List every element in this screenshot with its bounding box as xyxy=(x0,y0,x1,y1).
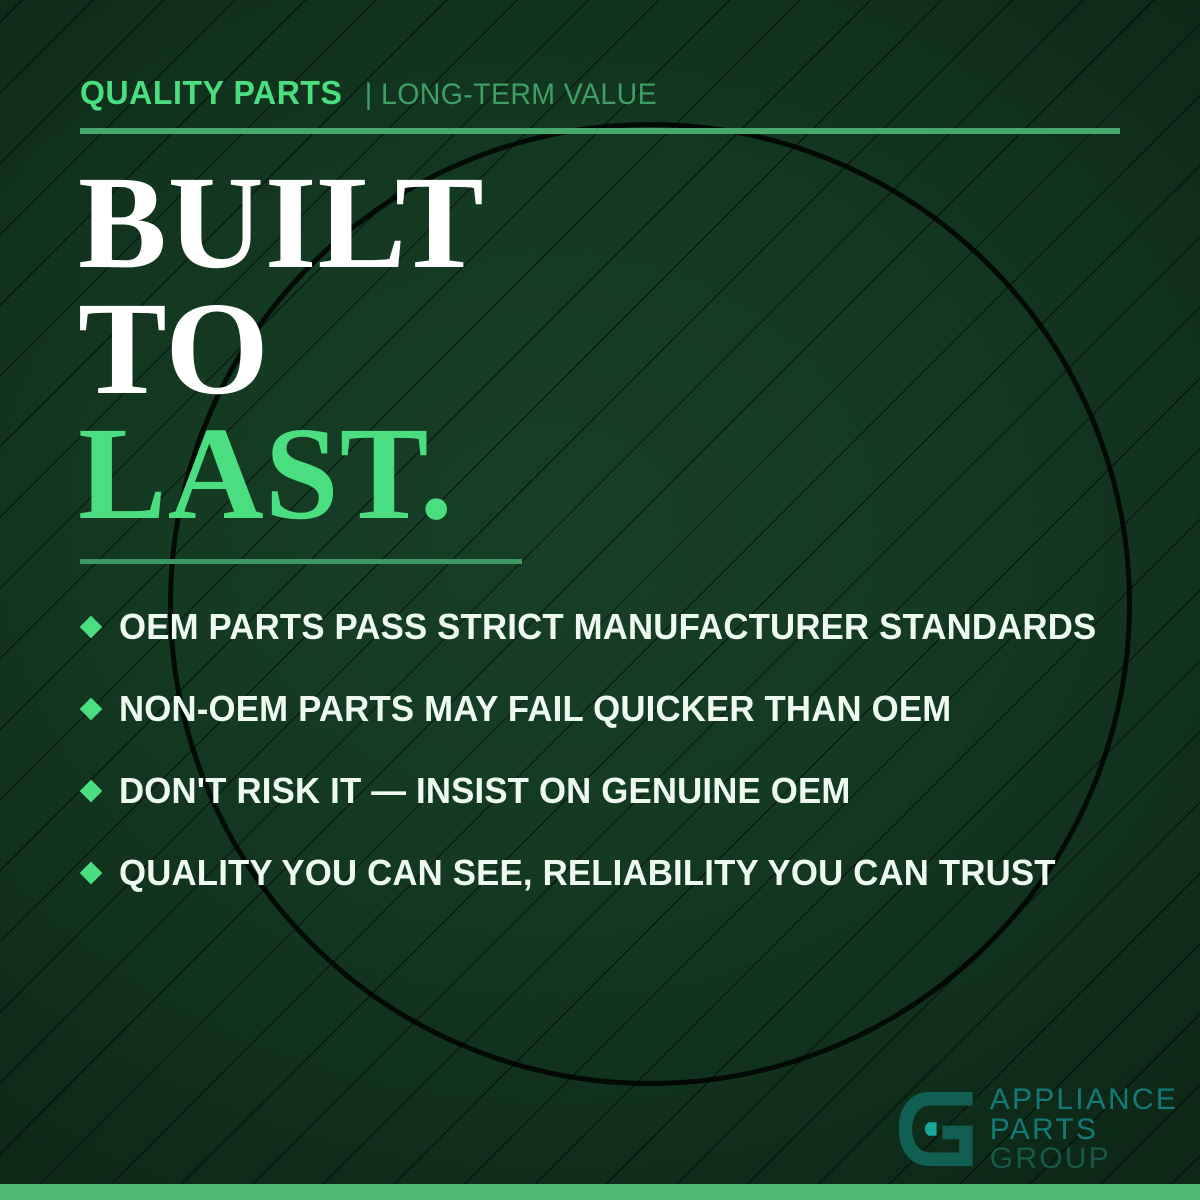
list-item: DON'T RISK IT — INSIST ON GENUINE OEM xyxy=(80,750,1150,832)
headline-line-3: LAST. xyxy=(78,411,485,537)
header-eyebrow: QUALITY PARTS | LONG-TERM VALUE xyxy=(80,74,672,112)
diamond-bullet-icon xyxy=(80,862,103,885)
diamond-bullet-icon xyxy=(80,780,103,803)
bottom-accent-bar xyxy=(0,1184,1200,1200)
list-item-label: NON-OEM PARTS MAY FAIL QUICKER THAN OEM xyxy=(119,688,951,730)
brand-wordmark: APPLIANCE PARTS GROUP xyxy=(990,1085,1178,1174)
benefit-list: OEM PARTS PASS STRICT MANUFACTURER STAND… xyxy=(80,586,1150,914)
header-secondary-label: LONG-TERM VALUE xyxy=(381,78,657,112)
headline-divider-rule xyxy=(80,559,522,564)
list-item-label: DON'T RISK IT — INSIST ON GENUINE OEM xyxy=(119,770,850,812)
brand-word-parts: PARTS xyxy=(990,1115,1178,1145)
brand-word-appliance: APPLIANCE xyxy=(990,1085,1178,1115)
list-item: NON-OEM PARTS MAY FAIL QUICKER THAN OEM xyxy=(80,668,1150,750)
headline-line-1: BUILT xyxy=(78,160,485,286)
list-item-label: OEM PARTS PASS STRICT MANUFACTURER STAND… xyxy=(119,606,1096,648)
brand-word-group: GROUP xyxy=(990,1144,1178,1174)
header-primary-label: QUALITY PARTS xyxy=(80,74,342,112)
header-divider-rule xyxy=(80,128,1120,134)
poster-canvas: QUALITY PARTS | LONG-TERM VALUE BUILT TO… xyxy=(0,0,1200,1200)
diamond-bullet-icon xyxy=(80,698,103,721)
page-title: BUILT TO LAST. xyxy=(78,160,485,537)
header-separator: | xyxy=(351,78,382,112)
brand-logo: APPLIANCE PARTS GROUP xyxy=(892,1085,1178,1174)
g-monogram-icon xyxy=(892,1087,976,1171)
diamond-bullet-icon xyxy=(80,616,103,639)
list-item: QUALITY YOU CAN SEE, RELIABILITY YOU CAN… xyxy=(80,832,1150,914)
list-item-label: QUALITY YOU CAN SEE, RELIABILITY YOU CAN… xyxy=(119,852,1056,894)
list-item: OEM PARTS PASS STRICT MANUFACTURER STAND… xyxy=(80,586,1150,668)
headline-line-2: TO xyxy=(78,286,485,412)
